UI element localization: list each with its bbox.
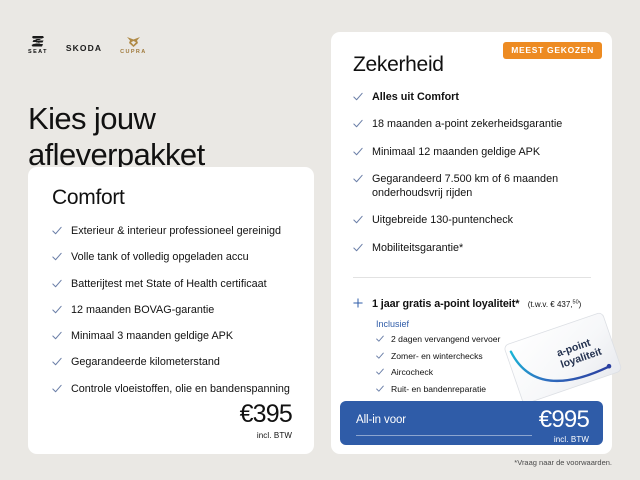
check-icon bbox=[376, 335, 384, 343]
list-item: Volle tank of volledig opgeladen accu bbox=[52, 250, 298, 264]
list-item: Controle vloeistoffen, olie en bandenspa… bbox=[52, 382, 298, 396]
check-icon bbox=[353, 119, 363, 129]
list-item: Ruit- en bandenreparatie bbox=[376, 384, 576, 395]
feature-label: Uitgebreide 130-puntencheck bbox=[372, 213, 513, 227]
feature-label: Aircocheck bbox=[391, 367, 433, 378]
check-icon bbox=[353, 147, 363, 157]
feature-label: Ruit- en bandenreparatie bbox=[391, 384, 486, 395]
list-item: Minimaal 12 maanden geldige APK bbox=[353, 145, 595, 159]
plus-icon bbox=[353, 298, 363, 308]
seat-emblem-icon bbox=[31, 35, 45, 48]
promo-page: SEAT SKODA CUPRA Kies jouw afleverpakket… bbox=[0, 0, 640, 480]
allin-price-bar: All-in voor €995 incl. BTW bbox=[340, 401, 603, 445]
cupra-logo: CUPRA bbox=[120, 36, 147, 56]
comfort-card-title: Comfort bbox=[52, 186, 125, 210]
feature-label: Gegarandeerde kilometerstand bbox=[71, 355, 220, 369]
loyalty-inclusief-list: 2 dagen vervangend vervoer Zomer- en win… bbox=[376, 334, 576, 401]
list-item: Batterijtest met State of Health certifi… bbox=[52, 277, 298, 291]
comfort-price-block: €395 incl. BTW bbox=[240, 402, 292, 440]
allin-divider bbox=[356, 435, 532, 436]
list-item: 2 dagen vervangend vervoer bbox=[376, 334, 576, 345]
list-item: Gegarandeerd 7.500 km of 6 maanden onder… bbox=[353, 172, 595, 201]
check-icon bbox=[376, 385, 384, 393]
allin-price-block: €995 incl. BTW bbox=[539, 408, 589, 444]
list-item: Minimaal 3 maanden geldige APK bbox=[52, 329, 298, 343]
skoda-logo: SKODA bbox=[66, 44, 102, 56]
loyalty-value: (t.w.v. € 437,50) bbox=[528, 300, 582, 309]
feature-label: Batterijtest met State of Health certifi… bbox=[71, 277, 267, 291]
allin-price-note: incl. BTW bbox=[539, 435, 589, 444]
feature-label: 18 maanden a-point zekerheidsgarantie bbox=[372, 117, 562, 131]
page-title: Kies jouw afleverpakket bbox=[28, 101, 308, 174]
comfort-price-note: incl. BTW bbox=[240, 431, 292, 440]
comfort-price: €395 bbox=[240, 402, 292, 427]
list-item: Mobiliteitsgarantie* bbox=[353, 241, 595, 255]
loyalty-headline-row: 1 jaar gratis a-point loyaliteit* (t.w.v… bbox=[353, 294, 603, 312]
feature-label: 12 maanden BOVAG-garantie bbox=[71, 303, 214, 317]
list-item: 12 maanden BOVAG-garantie bbox=[52, 303, 298, 317]
feature-label: Controle vloeistoffen, olie en bandenspa… bbox=[71, 382, 290, 396]
feature-label: Zomer- en winterchecks bbox=[391, 351, 483, 362]
list-item: 18 maanden a-point zekerheidsgarantie bbox=[353, 117, 595, 131]
feature-label: Mobiliteitsgarantie* bbox=[372, 241, 463, 255]
feature-label: Minimaal 3 maanden geldige APK bbox=[71, 329, 233, 343]
list-item: Aircocheck bbox=[376, 367, 576, 378]
list-item: Alles uit Comfort bbox=[353, 90, 595, 104]
loyalty-value-prefix: (t.w.v. € 437, bbox=[528, 300, 573, 309]
footnote: *Vraag naar de voorwaarden. bbox=[514, 458, 612, 467]
list-item: Uitgebreide 130-puntencheck bbox=[353, 213, 595, 227]
check-icon bbox=[353, 174, 363, 184]
list-item: Exterieur & interieur professioneel gere… bbox=[52, 224, 298, 238]
loyalty-title: 1 jaar gratis a-point loyaliteit* bbox=[372, 298, 519, 310]
zekerheid-package-card[interactable]: MEEST GEKOZEN Zekerheid Alles uit Comfor… bbox=[331, 32, 612, 454]
status-badge: MEEST GEKOZEN bbox=[503, 42, 602, 59]
check-icon bbox=[52, 279, 62, 289]
check-icon bbox=[52, 305, 62, 315]
loyalty-value-suffix: ) bbox=[579, 300, 582, 309]
inclusief-label: Inclusief bbox=[376, 319, 409, 329]
feature-label: Volle tank of volledig opgeladen accu bbox=[71, 250, 249, 264]
check-icon bbox=[353, 92, 363, 102]
seat-wordmark: SEAT bbox=[28, 50, 48, 56]
brand-logo-bar: SEAT SKODA CUPRA bbox=[28, 33, 147, 55]
allin-label: All-in voor bbox=[356, 414, 406, 426]
cupra-emblem-icon bbox=[126, 36, 141, 48]
check-icon bbox=[353, 215, 363, 225]
feature-label: Exterieur & interieur professioneel gere… bbox=[71, 224, 281, 238]
check-icon bbox=[376, 352, 384, 360]
check-icon bbox=[52, 357, 62, 367]
seat-logo: SEAT bbox=[28, 35, 48, 56]
cupra-wordmark: CUPRA bbox=[120, 50, 147, 56]
comfort-package-card[interactable]: Comfort Exterieur & interieur profession… bbox=[28, 167, 314, 454]
list-item: Gegarandeerde kilometerstand bbox=[52, 355, 298, 369]
left-column: SEAT SKODA CUPRA Kies jouw afleverpakket… bbox=[0, 0, 320, 480]
feature-label: 2 dagen vervangend vervoer bbox=[391, 334, 500, 345]
section-divider bbox=[353, 277, 591, 278]
feature-label: Alles uit Comfort bbox=[372, 90, 459, 104]
feature-label: Minimaal 12 maanden geldige APK bbox=[372, 145, 540, 159]
comfort-feature-list: Exterieur & interieur professioneel gere… bbox=[52, 224, 298, 408]
check-icon bbox=[52, 226, 62, 236]
zekerheid-card-title: Zekerheid bbox=[353, 53, 444, 77]
allin-price: €995 bbox=[539, 408, 589, 432]
check-icon bbox=[52, 384, 62, 394]
check-icon bbox=[52, 252, 62, 262]
check-icon bbox=[376, 368, 384, 376]
skoda-wordmark: SKODA bbox=[66, 44, 102, 56]
zekerheid-feature-list: Alles uit Comfort 18 maanden a-point zek… bbox=[353, 90, 595, 268]
feature-label: Gegarandeerd 7.500 km of 6 maanden onder… bbox=[372, 172, 595, 201]
list-item: Zomer- en winterchecks bbox=[376, 351, 576, 362]
check-icon bbox=[353, 243, 363, 253]
check-icon bbox=[52, 331, 62, 341]
